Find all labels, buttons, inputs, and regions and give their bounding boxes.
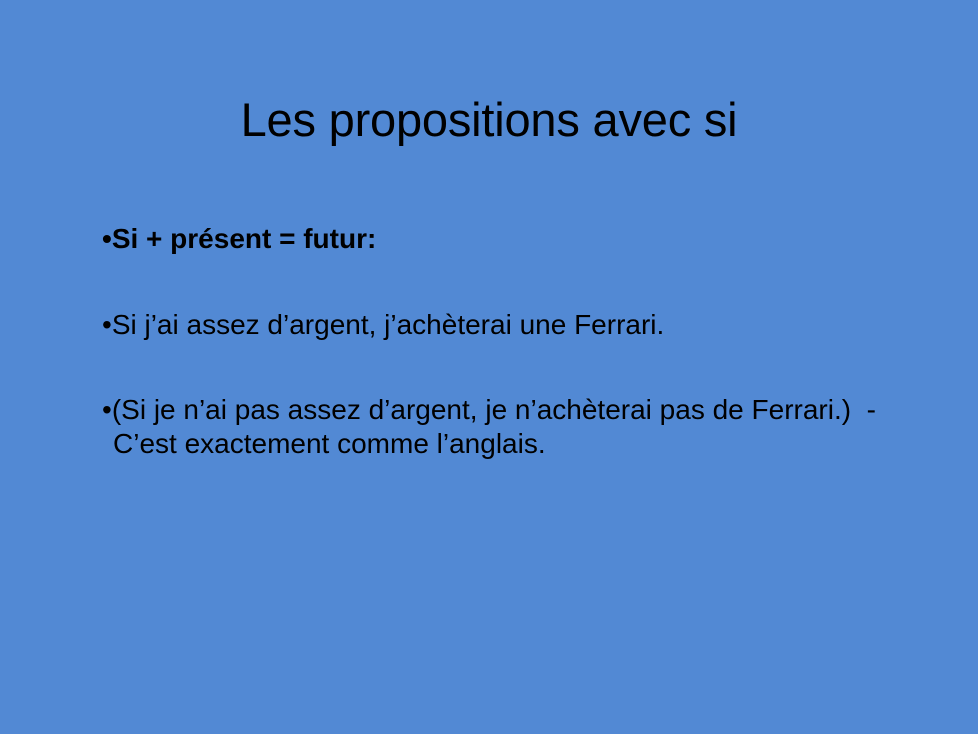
bullet-list: •Si + présent = futur: •Si j’ai assez d’… [102, 222, 892, 461]
bullet-glyph-icon: • [102, 223, 112, 254]
list-item-text: Si + présent = futur: [112, 223, 377, 254]
list-item: •Si + présent = futur: [102, 222, 892, 256]
page-title: Les propositions avec si [0, 92, 978, 148]
list-item: •Si j’ai assez d’argent, j’achèterai une… [102, 308, 892, 342]
list-spacer [102, 342, 892, 393]
bullet-glyph-icon: • [102, 309, 112, 340]
slide-canvas: Les propositions avec si •Si + présent =… [0, 0, 978, 734]
list-item-text: Si j’ai assez d’argent, j’achèterai une … [112, 309, 664, 340]
bullet-glyph-icon: • [102, 394, 112, 425]
list-item: •(Si je n’ai pas assez d’argent, je n’ac… [102, 393, 892, 461]
list-spacer [102, 256, 892, 308]
list-item-text: (Si je n’ai pas assez d’argent, je n’ach… [112, 394, 884, 459]
